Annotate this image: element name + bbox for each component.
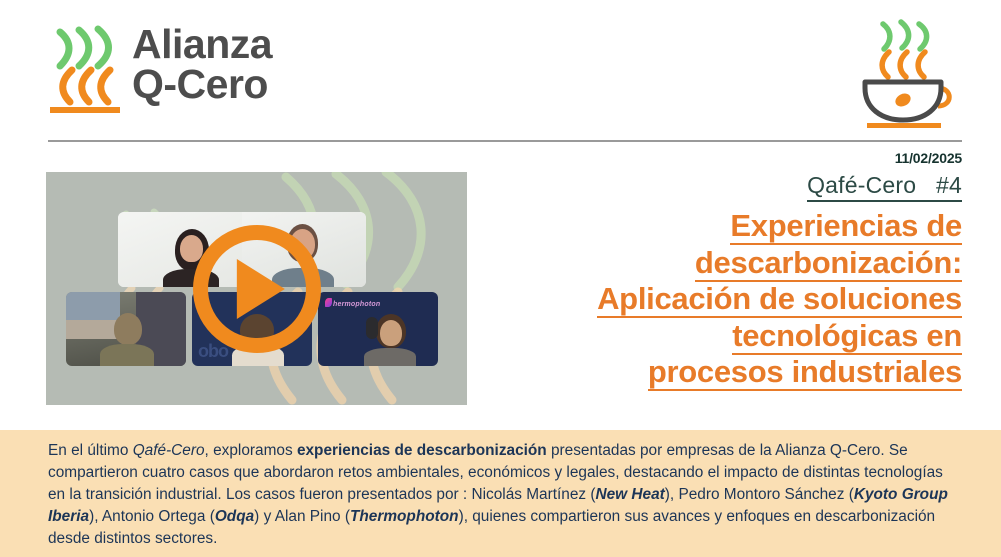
summary-band: En el último Qafé-Cero, exploramos exper… xyxy=(0,430,1001,557)
steam-waves-icon xyxy=(48,20,122,116)
coffee-cup-icon xyxy=(845,16,963,128)
main-content: obo hermophoton xyxy=(0,140,1001,430)
summary-segment-7: ), Pedro Montoro Sánchez ( xyxy=(665,486,854,503)
page-header: Alianza Q-Cero xyxy=(0,0,1001,140)
video-thumbnail[interactable]: obo hermophoton xyxy=(46,172,467,405)
brand-logo: Alianza Q-Cero xyxy=(48,20,272,116)
issue-label: Qafé-Cero #4 xyxy=(807,172,962,202)
brand-line-2: Q-Cero xyxy=(132,64,272,104)
summary-segment-1: En el último xyxy=(48,442,133,459)
participant-tile-5: hermophoton xyxy=(318,292,438,366)
page-title-line-5: procesos industriales xyxy=(648,354,962,391)
summary-segment-2: Qafé-Cero xyxy=(133,442,205,459)
page-title-line-1: Experiencias de xyxy=(730,208,962,245)
summary-segment-3: , exploramos xyxy=(205,442,297,459)
summary-segment-6: New Heat xyxy=(596,486,665,503)
play-triangle xyxy=(236,259,284,319)
summary-segment-9: ), Antonio Ortega ( xyxy=(89,508,215,525)
summary-paragraph: En el último Qafé-Cero, exploramos exper… xyxy=(48,440,961,549)
participant-tile-3 xyxy=(66,292,186,366)
page-title: Experiencias dedescarbonización:Aplicaci… xyxy=(442,208,962,391)
summary-segment-12: Thermophoton xyxy=(350,508,459,525)
thermophoton-mark-icon xyxy=(325,298,332,307)
issue-date: 11/02/2025 xyxy=(442,150,962,166)
page-title-line-4: tecnológicas en xyxy=(732,318,962,355)
brand-wordmark: Alianza Q-Cero xyxy=(132,20,272,104)
thermophoton-logo: hermophoton xyxy=(325,298,380,308)
page-title-line-2: descarbonización: xyxy=(695,245,962,282)
summary-segment-11: ) y Alan Pino ( xyxy=(254,508,350,525)
newsletter-page: Alianza Q-Cero xyxy=(0,0,1001,557)
summary-segment-4: experiencias de descarbonización xyxy=(297,442,547,459)
summary-segment-10: Odqa xyxy=(215,508,254,525)
play-button-icon[interactable] xyxy=(193,225,321,353)
issue-header: 11/02/2025 Qafé-Cero #4 Experiencias ded… xyxy=(442,150,962,391)
brand-line-1: Alianza xyxy=(132,24,272,64)
page-title-line-3: Aplicación de soluciones xyxy=(597,281,962,318)
